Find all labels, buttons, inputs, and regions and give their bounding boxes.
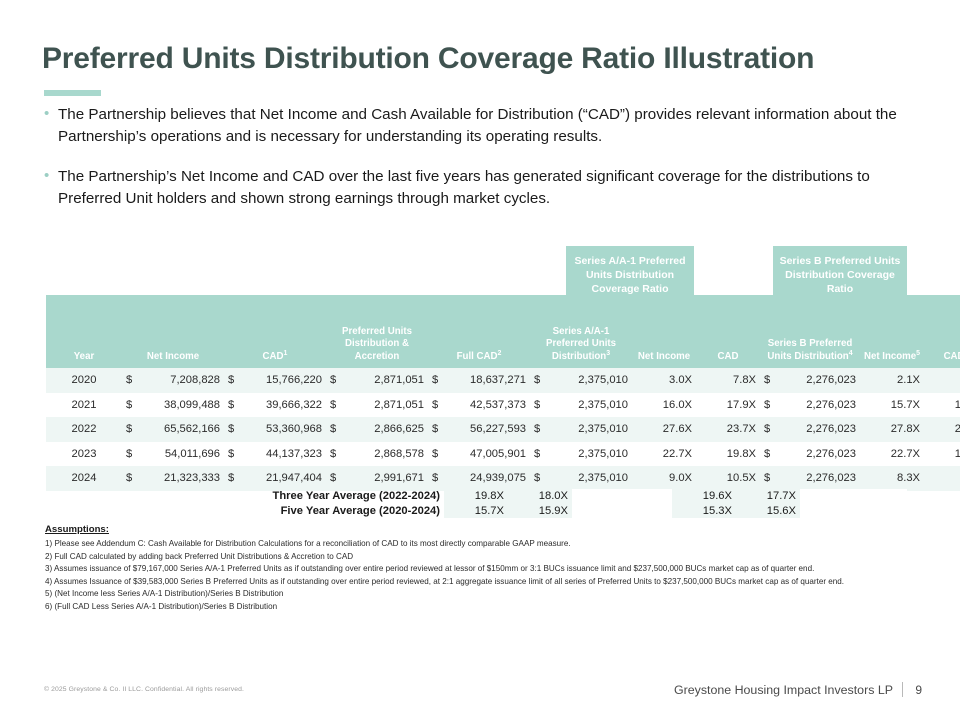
cell-pref-units-dist-accr: 2,991,671: [342, 466, 428, 491]
col-header-pref-units-dist-accretion: Preferred Units Distribution & Accretion: [326, 295, 428, 368]
cell-currency-symbol: $: [428, 466, 444, 491]
cell-currency-symbol: $: [428, 417, 444, 442]
cell-series-b-distribution: 2,276,023: [776, 368, 860, 393]
cell-series-a-dist: 2,375,010: [546, 368, 632, 393]
cell-cad: 44,137,323: [240, 442, 326, 467]
cell-pref-units-dist-accr: 2,866,625: [342, 417, 428, 442]
cell-series-b-distribution: 2,276,023: [776, 466, 860, 491]
cell-full-cad: 18,637,271: [444, 368, 530, 393]
assumption-item: 2) Full CAD calculated by adding back Pr…: [45, 551, 925, 564]
table-row: 2023$54,011,696$44,137,323$2,868,578$47,…: [46, 442, 960, 467]
cell-series-a-net-income-ratio: 16.0X: [632, 393, 696, 418]
cell-currency-symbol: $: [760, 417, 776, 442]
cell-series-b-cad-ratio: 17.6X: [924, 393, 960, 418]
cell-year: 2023: [46, 442, 122, 467]
cell-currency-symbol: $: [428, 442, 444, 467]
assumption-item: 5) (Net Income less Series A/A-1 Distrib…: [45, 588, 925, 601]
cell-currency-symbol: $: [760, 466, 776, 491]
table-row: 2024$21,323,333$21,947,404$2,991,671$24,…: [46, 466, 960, 491]
table-row: 2020$7,208,828$15,766,220$2,871,051$18,6…: [46, 368, 960, 393]
cell-cad: 21,947,404: [240, 466, 326, 491]
cell-year: 2021: [46, 393, 122, 418]
assumption-item: 3) Assumes issuance of $79,167,000 Serie…: [45, 563, 925, 576]
cell-cad: 15,766,220: [240, 368, 326, 393]
page-title: Preferred Units Distribution Coverage Ra…: [42, 42, 814, 76]
coverage-ratio-table: Year Net Income CAD1 Preferred Units Dis…: [46, 295, 907, 491]
cell-series-a-net-income-ratio: 27.6X: [632, 417, 696, 442]
cell-full-cad: 24,939,075: [444, 466, 530, 491]
cell-currency-symbol: $: [530, 417, 546, 442]
cell-year: 2020: [46, 368, 122, 393]
cell-currency-symbol: $: [122, 368, 138, 393]
cell-series-a-net-income-ratio: 3.0X: [632, 368, 696, 393]
cell-currency-symbol: $: [122, 393, 138, 418]
bullet-text: The Partnership believes that Net Income…: [58, 104, 916, 148]
cell-year: 2024: [46, 466, 122, 491]
table-row: 2021$38,099,488$39,666,322$2,871,051$42,…: [46, 393, 960, 418]
slide-root: Preferred Units Distribution Coverage Ra…: [0, 0, 960, 720]
col-header-full-cad: Full CAD2: [428, 295, 530, 368]
cell-series-a-cad-ratio: 19.8X: [696, 442, 760, 467]
footer-copyright: © 2025 Greystone & Co. II LLC. Confident…: [44, 686, 244, 693]
cell-currency-symbol: $: [122, 466, 138, 491]
average-row: Five Year Average (2020-2024)15.7X15.9X1…: [46, 504, 907, 519]
cell-series-a-dist: 2,375,010: [546, 466, 632, 491]
cell-series-b-net-income-ratio: 8.3X: [860, 466, 924, 491]
cell-currency-symbol: $: [428, 368, 444, 393]
cell-currency-symbol: $: [224, 466, 240, 491]
average-spacer: [800, 504, 907, 519]
cell-currency-symbol: $: [530, 466, 546, 491]
col-header-series-a-cad: CAD: [696, 295, 760, 368]
cell-currency-symbol: $: [224, 442, 240, 467]
cell-currency-symbol: $: [530, 442, 546, 467]
table-row: 2022$65,562,166$53,360,968$2,866,625$56,…: [46, 417, 960, 442]
average-series-a-cad: 18.0X: [508, 489, 572, 504]
cell-series-b-distribution: 2,276,023: [776, 442, 860, 467]
cell-currency-symbol: $: [122, 442, 138, 467]
cell-series-b-cad-ratio: 19.6X: [924, 442, 960, 467]
cell-net-income: 54,011,696: [138, 442, 224, 467]
cell-net-income: 65,562,166: [138, 417, 224, 442]
footer-divider: [902, 682, 903, 697]
col-header-series-a-distribution: Series A/A-1 Preferred Units Distributio…: [530, 295, 632, 368]
title-accent-bar: [44, 90, 101, 96]
col-header-series-b-cad: CAD6: [924, 295, 960, 368]
cell-currency-symbol: $: [326, 417, 342, 442]
cell-year: 2022: [46, 417, 122, 442]
bullet-dot-icon: •: [42, 166, 58, 186]
averages-block: Three Year Average (2022-2024)19.8X18.0X…: [46, 489, 907, 518]
cell-series-b-distribution: 2,276,023: [776, 417, 860, 442]
cell-series-a-cad-ratio: 7.8X: [696, 368, 760, 393]
cell-currency-symbol: $: [224, 393, 240, 418]
assumption-item: 4) Assumes Issuance of $39,583,000 Serie…: [45, 576, 925, 589]
average-series-a-net-income: 19.8X: [444, 489, 508, 504]
cell-series-a-cad-ratio: 17.9X: [696, 393, 760, 418]
cell-currency-symbol: $: [530, 368, 546, 393]
table-header-row: Year Net Income CAD1 Preferred Units Dis…: [46, 295, 960, 368]
assumption-item: 1) Please see Addendum C: Cash Available…: [45, 538, 925, 551]
cell-series-b-net-income-ratio: 22.7X: [860, 442, 924, 467]
average-label: Three Year Average (2022-2024): [46, 489, 444, 504]
cell-net-income: 38,099,488: [138, 393, 224, 418]
cell-currency-symbol: $: [224, 368, 240, 393]
cell-series-b-net-income-ratio: 15.7X: [860, 393, 924, 418]
col-header-year: Year: [46, 295, 122, 368]
cell-currency-symbol: $: [428, 393, 444, 418]
average-spacer: [572, 489, 672, 504]
cell-series-b-cad-ratio: 23.7X: [924, 417, 960, 442]
footer-page-number: 9: [912, 683, 922, 697]
bullet-text: The Partnership’s Net Income and CAD ove…: [58, 166, 916, 210]
cell-currency-symbol: $: [326, 442, 342, 467]
cell-pref-units-dist-accr: 2,871,051: [342, 368, 428, 393]
cell-pref-units-dist-accr: 2,868,578: [342, 442, 428, 467]
average-series-b-net-income: 19.6X: [672, 489, 736, 504]
assumptions-section: Assumptions: 1) Please see Addendum C: C…: [45, 524, 925, 614]
bullet-list: • The Partnership believes that Net Inco…: [42, 104, 918, 228]
cell-series-a-cad-ratio: 10.5X: [696, 466, 760, 491]
average-series-b-net-income: 15.3X: [672, 504, 736, 519]
assumptions-title: Assumptions:: [45, 524, 925, 535]
cell-currency-symbol: $: [224, 417, 240, 442]
cell-series-a-dist: 2,375,010: [546, 393, 632, 418]
col-header-net-income: Net Income: [122, 295, 224, 368]
footer-company-name: Greystone Housing Impact Investors LP: [674, 683, 893, 697]
footer-right: Greystone Housing Impact Investors LP 9: [674, 682, 922, 697]
cell-currency-symbol: $: [760, 442, 776, 467]
cell-series-a-dist: 2,375,010: [546, 417, 632, 442]
cell-cad: 39,666,322: [240, 393, 326, 418]
cell-net-income: 21,323,333: [138, 466, 224, 491]
average-spacer: [800, 489, 907, 504]
cell-series-a-net-income-ratio: 9.0X: [632, 466, 696, 491]
cell-series-b-net-income-ratio: 2.1X: [860, 368, 924, 393]
list-item: • The Partnership’s Net Income and CAD o…: [42, 166, 918, 210]
cell-series-a-net-income-ratio: 22.7X: [632, 442, 696, 467]
average-label: Five Year Average (2020-2024): [46, 504, 444, 519]
average-series-a-cad: 15.9X: [508, 504, 572, 519]
cell-series-b-net-income-ratio: 27.8X: [860, 417, 924, 442]
list-item: • The Partnership believes that Net Inco…: [42, 104, 918, 148]
bullet-dot-icon: •: [42, 104, 58, 124]
average-series-a-net-income: 15.7X: [444, 504, 508, 519]
col-header-cad: CAD1: [224, 295, 326, 368]
col-header-series-a-net-income: Net Income: [632, 295, 696, 368]
cell-currency-symbol: $: [326, 466, 342, 491]
col-header-series-b-distribution: Series B Preferred Units Distribution4: [760, 295, 860, 368]
cell-currency-symbol: $: [122, 417, 138, 442]
cell-net-income: 7,208,828: [138, 368, 224, 393]
cell-currency-symbol: $: [326, 393, 342, 418]
average-series-b-cad: 15.6X: [736, 504, 800, 519]
cell-full-cad: 42,537,373: [444, 393, 530, 418]
cell-currency-symbol: $: [760, 393, 776, 418]
cell-full-cad: 56,227,593: [444, 417, 530, 442]
cell-series-a-dist: 2,375,010: [546, 442, 632, 467]
average-series-b-cad: 17.7X: [736, 489, 800, 504]
col-header-series-b-net-income: Net Income5: [860, 295, 924, 368]
cell-full-cad: 47,005,901: [444, 442, 530, 467]
cell-series-b-distribution: 2,276,023: [776, 393, 860, 418]
cell-series-b-cad-ratio: 7.1X: [924, 368, 960, 393]
cell-currency-symbol: $: [530, 393, 546, 418]
cell-pref-units-dist-accr: 2,871,051: [342, 393, 428, 418]
average-row: Three Year Average (2022-2024)19.8X18.0X…: [46, 489, 907, 504]
cell-series-a-cad-ratio: 23.7X: [696, 417, 760, 442]
assumption-item: 6) (Full CAD Less Series A/A-1 Distribut…: [45, 601, 925, 614]
cell-currency-symbol: $: [760, 368, 776, 393]
cell-currency-symbol: $: [326, 368, 342, 393]
cell-cad: 53,360,968: [240, 417, 326, 442]
average-spacer: [572, 504, 672, 519]
cell-series-b-cad-ratio: 9.9X: [924, 466, 960, 491]
